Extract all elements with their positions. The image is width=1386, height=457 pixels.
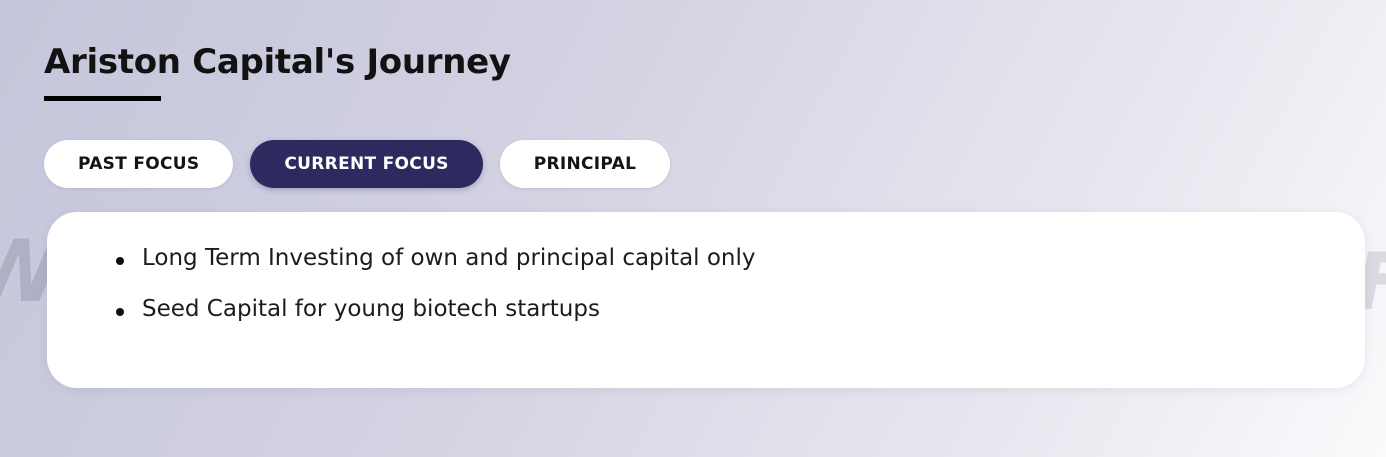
tab-principal[interactable]: PRINCIPAL	[500, 140, 671, 188]
tab-current-focus[interactable]: CURRENT FOCUS	[250, 140, 482, 188]
title-underline-rule	[44, 96, 161, 101]
tab-label: PAST FOCUS	[78, 154, 199, 174]
content-card: Long Term Investing of own and principal…	[47, 212, 1365, 388]
slide-canvas: WikiFX WikiFX WikiFX Ariston Capital's J…	[0, 0, 1386, 457]
tab-bar: PAST FOCUS CURRENT FOCUS PRINCIPAL	[44, 140, 670, 188]
tab-label: PRINCIPAL	[534, 154, 637, 174]
list-item: Long Term Investing of own and principal…	[116, 246, 1365, 271]
tab-label: CURRENT FOCUS	[284, 154, 448, 174]
list-item: Seed Capital for young biotech startups	[116, 297, 1365, 322]
tab-past-focus[interactable]: PAST FOCUS	[44, 140, 233, 188]
title-block: Ariston Capital's Journey	[44, 44, 511, 101]
bullet-list: Long Term Investing of own and principal…	[47, 212, 1365, 323]
page-title: Ariston Capital's Journey	[44, 44, 511, 81]
